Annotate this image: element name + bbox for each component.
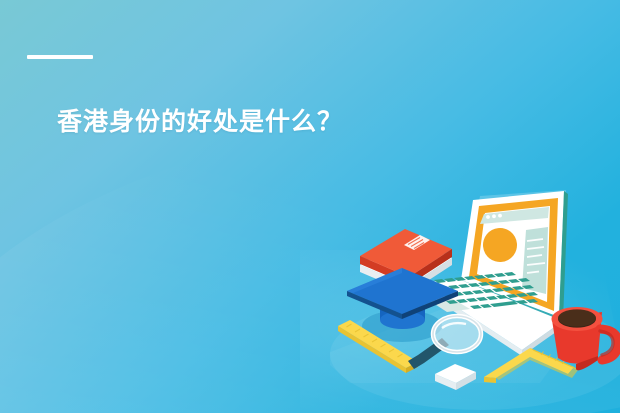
slide-canvas: 香港身份的好处是什么？ bbox=[0, 0, 620, 413]
title-accent-rule bbox=[27, 55, 93, 59]
page-title: 香港身份的好处是什么？ bbox=[57, 105, 577, 139]
illustration-desk-scene bbox=[330, 178, 620, 413]
